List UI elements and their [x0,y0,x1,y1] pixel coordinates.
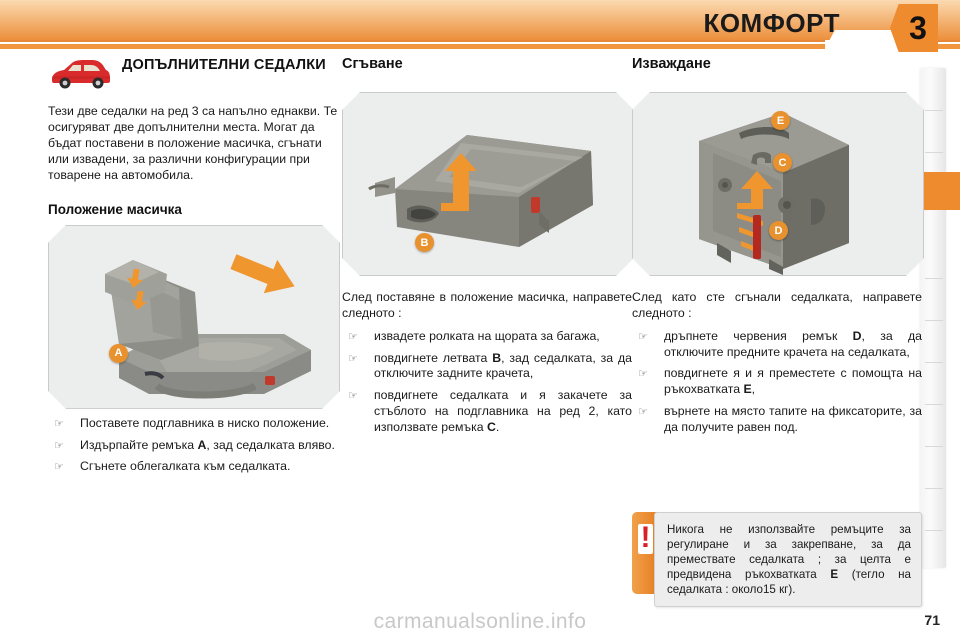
figure-label-a: A [109,344,128,363]
list-item: ☞Издърпайте ремъка A, зад седалката вляв… [48,438,338,454]
list-item: ☞повдигнете седалката и я закачете за ст… [342,388,632,435]
list-item: ☞Поставете подглавника в ниско положение… [48,416,338,432]
middle-bullet-list: ☞извадете ролката на щората за багажа, ☞… [342,329,632,435]
right-column: Изваждане [632,56,922,441]
pointing-hand-icon: ☞ [348,352,358,366]
warning-box: ! Никога не използвайте ремъците за регу… [632,512,922,607]
section-title-row: ДОПЪЛНИТЕЛНИ СЕДАЛКИ [48,56,338,98]
watermark: carmanualsonline.info [0,610,960,634]
list-item-text: повдигнете летвата B, зад седалката, за … [374,351,632,381]
tab-divider [925,110,943,111]
chapter-number-tab: 3 [890,4,938,52]
figure-table-position: A [48,225,340,409]
list-item: ☞върнете на място тапите на фиксаторите,… [632,404,922,435]
pointing-hand-icon: ☞ [638,330,648,344]
right-lead-paragraph: След като сте сгънали седалката, направе… [632,290,922,322]
tab-divider [925,488,943,489]
tab-divider [925,152,943,153]
tab-divider [925,278,943,279]
red-car-icon [48,58,112,95]
figure-label-b: B [415,233,434,252]
pointing-hand-icon: ☞ [348,330,358,344]
figure-folding: B [342,92,634,276]
header-notch-fill [825,40,905,52]
header-rule-bottom [0,44,960,49]
pointing-hand-icon: ☞ [54,460,64,474]
pointing-hand-icon: ☞ [54,439,64,453]
tab-divider [925,530,943,531]
list-item-text: Издърпайте ремъка A, зад седалката вляво… [80,438,335,452]
list-item: ☞Сгънете облегалката към седалката. [48,459,338,475]
section-title: ДОПЪЛНИТЕЛНИ СЕДАЛКИ [122,56,326,74]
list-item: ☞извадете ролката на щората за багажа, [342,329,632,345]
figure-label-e: E [771,111,790,130]
page-number: 71 [924,612,940,628]
right-bullet-list: ☞дръпнете червения ремък D, за да отключ… [632,329,922,435]
warning-text: Никога не използвайте ремъците за регули… [654,512,922,607]
pointing-hand-icon: ☞ [54,417,64,431]
right-column-title: Изваждане [632,56,922,98]
list-item-text: Сгънете облегалката към седалката. [80,459,290,473]
left-column: ДОПЪЛНИТЕЛНИ СЕДАЛКИ Тези две седалки на… [48,56,338,481]
list-item-text: дръпнете червения ремък D, за да отключи… [664,329,922,359]
middle-column: Сгъване B След поставяне в положение [342,56,632,441]
figure-label-d: D [769,221,788,240]
pointing-hand-icon: ☞ [638,405,648,419]
exclamation-icon: ! [638,524,653,554]
tab-divider [925,446,943,447]
tab-divider [925,320,943,321]
list-item: ☞дръпнете червения ремък D, за да отключ… [632,329,922,360]
tab-divider [925,404,943,405]
intro-paragraph: Тези две седалки на ред 3 са напълно едн… [48,104,338,184]
middle-column-title: Сгъване [342,56,632,98]
subsection-title: Положение масичка [48,202,338,217]
middle-lead-paragraph: След поставяне в положение масичка, напр… [342,290,632,322]
list-item-text: повдигнете седалката и я закачете за стъ… [374,388,632,433]
page-title: КОМФОРТ [703,8,840,39]
list-item: ☞повдигнете я и я преместете с помощта н… [632,366,922,397]
left-bullet-list: ☞Поставете подглавника в ниско положение… [48,416,338,475]
list-item: ☞повдигнете летвата B, зад седалката, за… [342,351,632,382]
list-item-text: Поставете подглавника в ниско положение. [80,416,329,430]
pointing-hand-icon: ☞ [348,389,358,403]
figure-label-c: C [773,153,792,172]
chapter-number: 3 [901,10,927,47]
pointing-hand-icon: ☞ [638,367,648,381]
list-item-text: извадете ролката на щората за багажа, [374,329,600,343]
figure-removal: E C D [632,92,924,276]
list-item-text: върнете на място тапите на фиксаторите, … [664,404,922,434]
list-item-text: повдигнете я и я преместете с помощта на… [664,366,922,396]
tab-divider [925,362,943,363]
